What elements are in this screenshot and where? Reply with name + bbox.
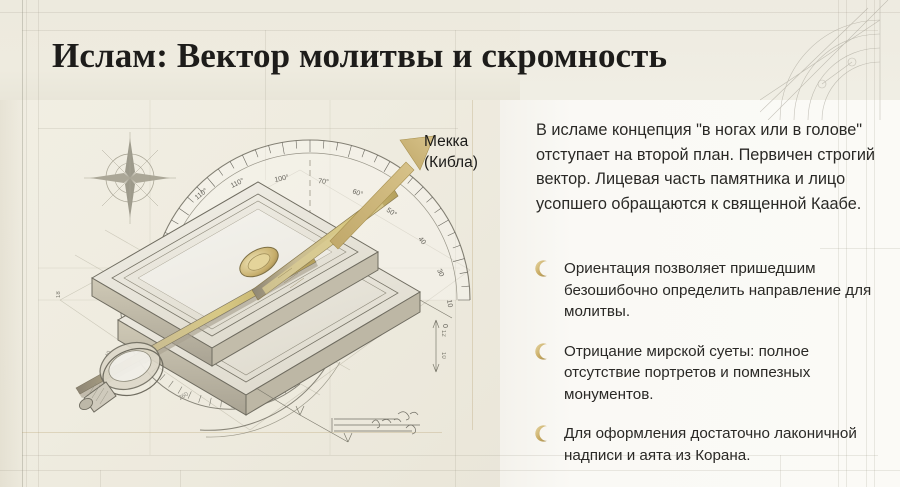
mecca-label-line2: (Кибла) [424, 152, 478, 173]
svg-text:12: 12 [440, 330, 446, 337]
slide-root: 110° 110° 100° 70° 60° 50° 40 30 10 0 [0, 0, 900, 487]
svg-text:10: 10 [445, 299, 453, 308]
list-item-label: Ориентация позволяет пришедшим безошибоч… [564, 260, 871, 320]
crescent-moon-icon [533, 342, 552, 361]
list-item: Отрицание мирской суеты: полное отсутств… [531, 341, 883, 406]
crescent-moon-icon [533, 259, 552, 278]
list-item-label: Отрицание мирской суеты: полное отсутств… [564, 343, 810, 403]
svg-text:260: 260 [178, 391, 190, 402]
mecca-arrow-label: Мекка (Кибла) [424, 131, 478, 173]
intro-paragraph: В исламе концепция "в ногах или в голове… [536, 118, 876, 216]
list-item: Ориентация позволяет пришедшим безошибоч… [531, 258, 883, 323]
svg-text:18: 18 [56, 291, 62, 298]
svg-text:10: 10 [440, 352, 446, 359]
compass-rose-icon [84, 132, 176, 224]
bullet-list: Ориентация позволяет пришедшим безошибоч… [531, 258, 883, 484]
mecca-label-line1: Мекка [424, 131, 478, 152]
crescent-moon-icon [533, 424, 552, 443]
svg-text:0: 0 [441, 324, 448, 328]
page-title: Ислам: Вектор молитвы и скромность [52, 36, 667, 76]
list-item: Для оформления достаточно лаконичной над… [531, 423, 883, 466]
handwritten-note [332, 412, 420, 434]
svg-text:70°: 70° [318, 177, 330, 186]
corner-arc-decoration [760, 0, 900, 120]
list-item-label: Для оформления достаточно лаконичной над… [564, 425, 857, 464]
